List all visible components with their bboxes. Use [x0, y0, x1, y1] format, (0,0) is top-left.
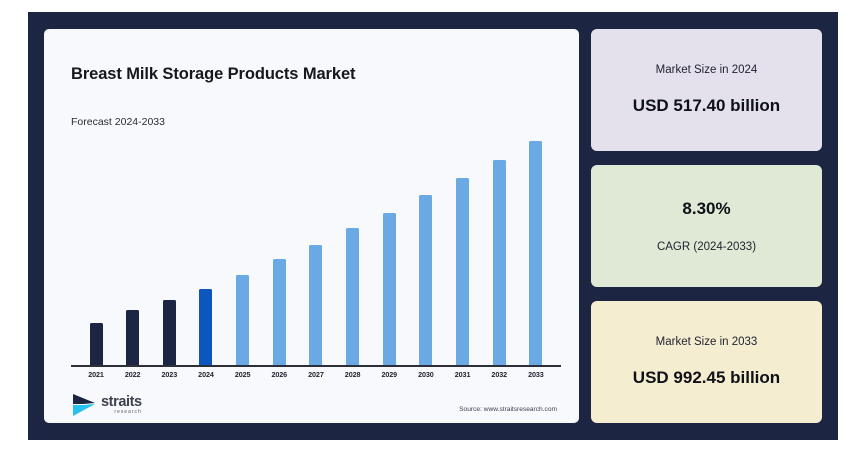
- chart-bar: [346, 228, 359, 367]
- chart-bar: [419, 195, 432, 367]
- logo-subword: research: [101, 410, 142, 415]
- x-axis-tick-label: 2030: [413, 370, 439, 379]
- bar-slot: [83, 141, 109, 367]
- x-axis-tick-label: 2032: [486, 370, 512, 379]
- chart-bar: [126, 310, 139, 367]
- bar-slot: [340, 141, 366, 367]
- logo-text: straits research: [101, 395, 142, 416]
- arrow-logo-icon: [71, 393, 97, 417]
- bar-slot: [413, 141, 439, 367]
- chart-bar: [236, 275, 249, 367]
- bar-slot: [156, 141, 182, 367]
- chart-bar: [529, 141, 542, 367]
- page-title: Breast Milk Storage Products Market: [71, 65, 355, 84]
- bars-container: [71, 141, 561, 367]
- chart-footer: straits research Source: www.straitsrese…: [71, 393, 557, 421]
- logo-wordmark: straits: [101, 395, 142, 410]
- x-axis-labels: 2021202220232024202520262027202820292030…: [71, 370, 561, 379]
- x-axis-tick-label: 2027: [303, 370, 329, 379]
- stat-label: Market Size in 2033: [656, 336, 758, 348]
- bar-slot: [486, 141, 512, 367]
- stat-card-cagr: 8.30% CAGR (2024-2033): [591, 165, 822, 287]
- x-axis-tick-label: 2028: [340, 370, 366, 379]
- bar-slot: [193, 141, 219, 367]
- x-axis-line: [71, 365, 561, 367]
- chart-bar: [90, 323, 103, 367]
- x-axis-tick-label: 2026: [266, 370, 292, 379]
- stat-card-market-size-2033: Market Size in 2033 USD 992.45 billion: [591, 301, 822, 423]
- bar-slot: [523, 141, 549, 367]
- x-axis-tick-label: 2023: [156, 370, 182, 379]
- x-axis-tick-label: 2024: [193, 370, 219, 379]
- bar-slot: [120, 141, 146, 367]
- bar-slot: [450, 141, 476, 367]
- bar-chart-plot: [71, 139, 561, 367]
- chart-subtitle: Forecast 2024-2033: [71, 116, 165, 128]
- bar-slot: [303, 141, 329, 367]
- chart-bar: [309, 245, 322, 367]
- bar-slot: [376, 141, 402, 367]
- stat-value: 8.30%: [682, 199, 730, 219]
- source-attribution: Source: www.straitsresearch.com: [459, 406, 557, 413]
- chart-bar: [163, 300, 176, 367]
- stat-value: USD 992.45 billion: [633, 368, 780, 388]
- bar-slot: [266, 141, 292, 367]
- x-axis-tick-label: 2025: [230, 370, 256, 379]
- chart-bar: [456, 178, 469, 367]
- chart-bar: [383, 213, 396, 367]
- infographic-panel: Breast Milk Storage Products Market Fore…: [28, 12, 838, 440]
- stats-column: Market Size in 2024 USD 517.40 billion 8…: [591, 29, 822, 423]
- bar-slot: [230, 141, 256, 367]
- stat-card-market-size-2024: Market Size in 2024 USD 517.40 billion: [591, 29, 822, 151]
- chart-bar: [493, 160, 506, 367]
- x-axis-tick-label: 2021: [83, 370, 109, 379]
- x-axis-tick-label: 2022: [120, 370, 146, 379]
- stat-label: CAGR (2024-2033): [657, 241, 756, 253]
- chart-bar: [199, 289, 212, 367]
- straits-research-logo: straits research: [71, 393, 142, 417]
- stat-label: Market Size in 2024: [656, 64, 758, 76]
- x-axis-tick-label: 2031: [450, 370, 476, 379]
- chart-bar: [273, 259, 286, 367]
- stat-value: USD 517.40 billion: [633, 96, 780, 116]
- chart-card: Breast Milk Storage Products Market Fore…: [44, 29, 579, 423]
- x-axis-tick-label: 2033: [523, 370, 549, 379]
- x-axis-tick-label: 2029: [376, 370, 402, 379]
